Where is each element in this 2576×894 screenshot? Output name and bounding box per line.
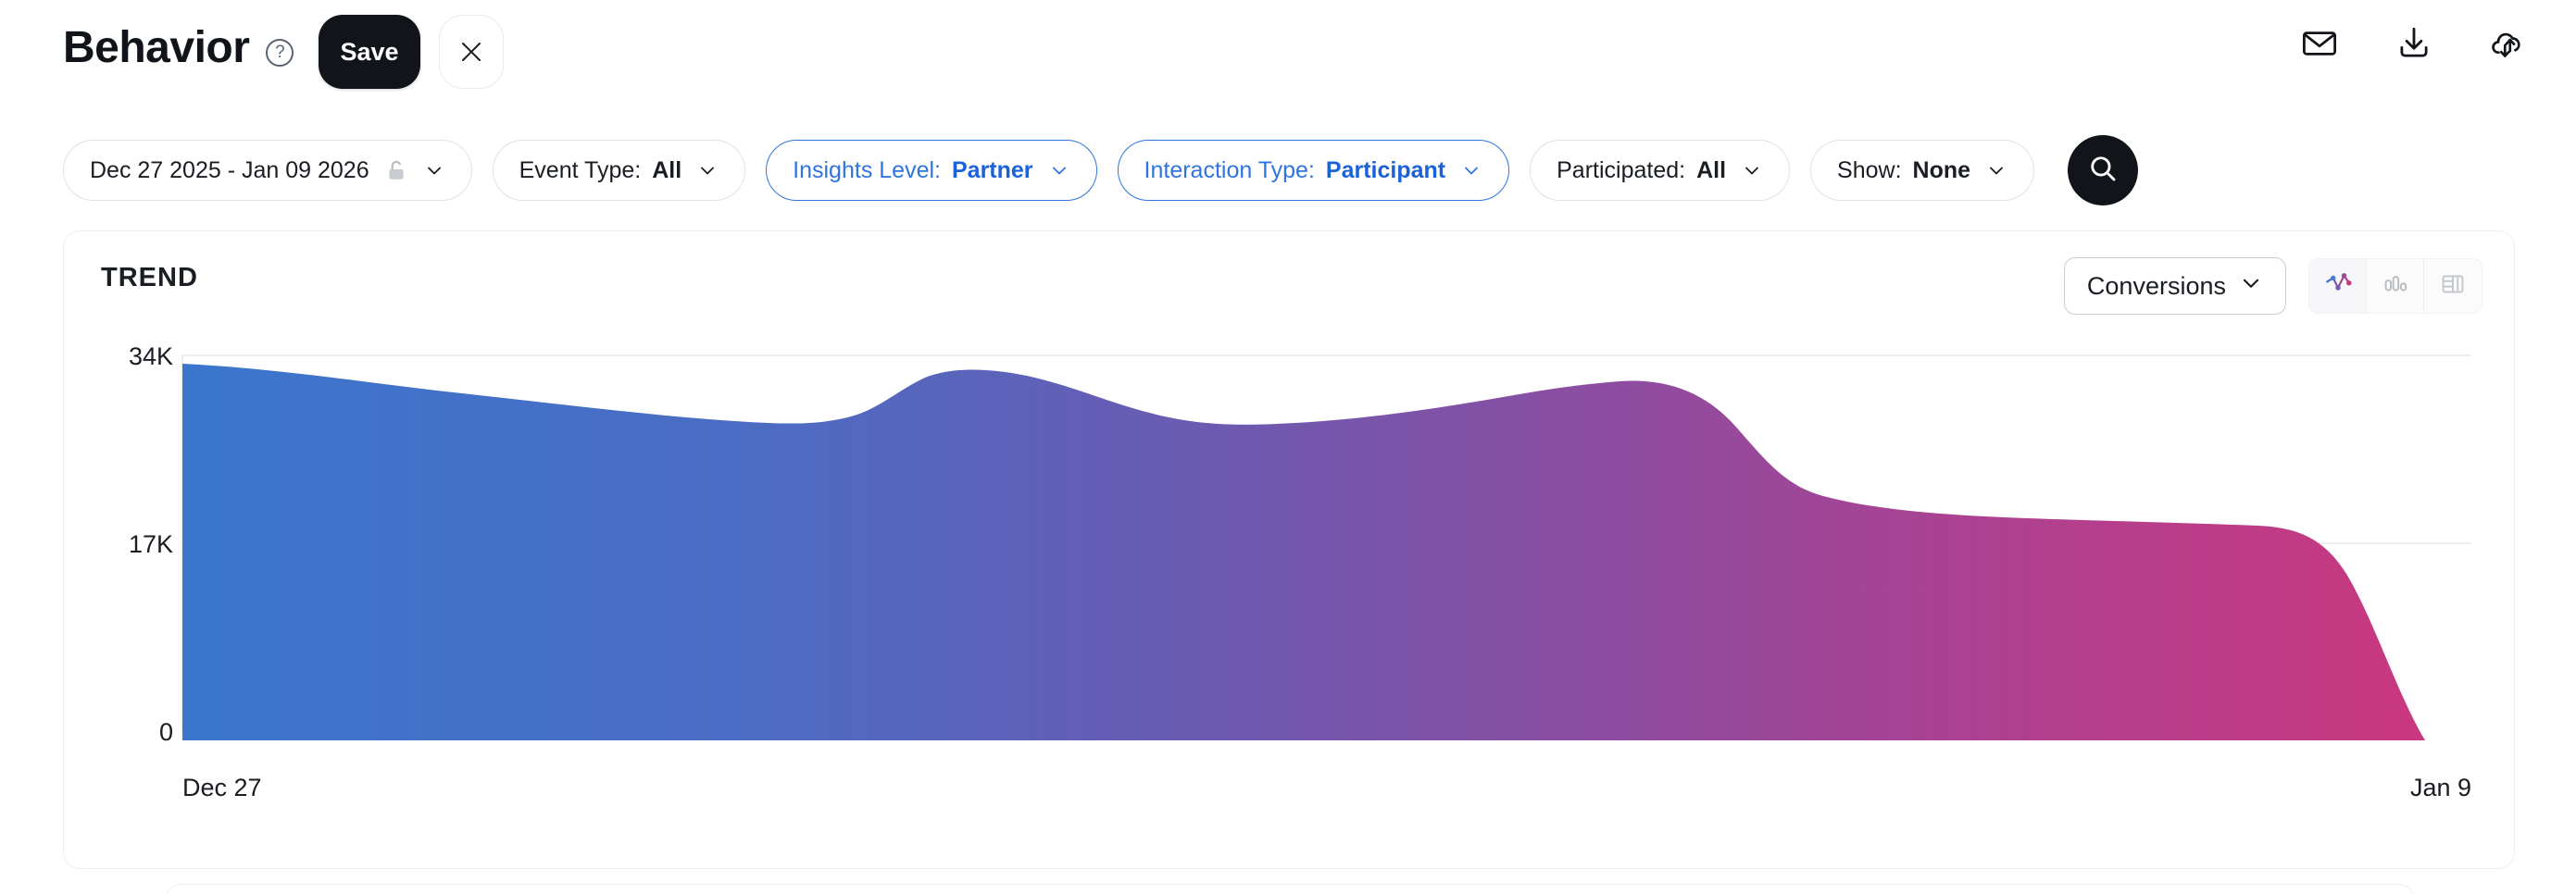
filter-chip-show[interactable]: Show: None [1810,140,2034,201]
chip-label: Show: [1837,157,1901,184]
y-tick-label-34k: 34K [129,342,173,370]
filter-bar: Dec 27 2025 - Jan 09 2026 Event Type: Al… [63,135,2138,205]
chevron-down-icon [696,159,719,181]
question-mark-circle-icon[interactable]: ? [266,39,294,67]
trend-card-header: TREND Conversions [64,231,2514,342]
trend-card-controls: Conversions [2064,257,2482,315]
download-icon [2395,24,2433,63]
filter-chip-interaction-type[interactable]: Interaction Type: Participant [1118,140,1510,201]
chip-value: Participant [1326,157,1445,184]
trend-chart: 34K 17K 0 Dec 27 Jan 9 [64,342,2516,870]
view-mode-toggle [2308,258,2482,314]
chip-label: Participated: [1557,157,1685,184]
unlock-icon [384,158,408,182]
chip-value: None [1913,157,1971,184]
trend-chart-svg: 34K 17K 0 Dec 27 Jan 9 [64,342,2516,870]
chip-value: Partner [952,157,1033,184]
chip-value: All [1696,157,1726,184]
cloud-sync-icon [2487,22,2530,65]
date-range-value: Dec 27 2025 - Jan 09 2026 [90,157,369,184]
line-chart-view-button[interactable] [2309,259,2367,313]
y-tick-label-17k: 17K [129,530,173,558]
x-tick-label-end: Jan 9 [2410,774,2471,801]
page-title: Behavior [63,26,249,70]
chevron-down-icon [1048,159,1070,181]
bar-chart-icon [2380,268,2411,304]
email-button[interactable] [2298,22,2341,65]
page-header: Behavior ? Save [0,0,2576,120]
close-button[interactable] [439,15,504,89]
behavior-dashboard-page: Behavior ? Save [0,0,2576,894]
chip-label: Event Type: [519,157,642,184]
filter-chip-event-type[interactable]: Event Type: All [493,140,746,201]
cloud-sync-button[interactable] [2487,22,2530,65]
filter-chip-participated[interactable]: Participated: All [1530,140,1790,201]
chip-label: Interaction Type: [1144,157,1315,184]
chevron-down-icon [1741,159,1763,181]
chevron-down-icon [1460,159,1482,181]
bar-chart-view-button[interactable] [2367,259,2424,313]
filter-chip-insights-level[interactable]: Insights Level: Partner [766,140,1096,201]
email-icon [2300,24,2339,63]
header-actions [2298,22,2530,65]
chevron-down-icon [2239,271,2263,302]
y-tick-label-0: 0 [159,718,173,746]
next-card-partial [165,884,2415,894]
save-button[interactable]: Save [319,15,420,89]
table-icon [2437,268,2469,304]
chevron-down-icon [423,159,445,181]
chip-label: Insights Level: [793,157,941,184]
metric-select[interactable]: Conversions [2064,257,2286,315]
line-chart-icon [2322,268,2354,304]
x-tick-label-start: Dec 27 [182,774,262,801]
chevron-down-icon [1985,159,2007,181]
date-range-chip[interactable]: Dec 27 2025 - Jan 09 2026 [63,140,472,201]
chip-value: All [652,157,682,184]
title-group: Behavior ? [63,26,294,70]
trend-card: TREND Conversions [63,230,2515,869]
metric-select-value: Conversions [2087,272,2226,301]
close-icon [458,39,484,65]
search-icon [2086,152,2120,190]
trend-title: TREND [101,263,198,293]
download-button[interactable] [2393,22,2435,65]
search-button[interactable] [2068,135,2138,205]
area-series-conversions [182,364,2425,740]
table-view-button[interactable] [2424,259,2482,313]
